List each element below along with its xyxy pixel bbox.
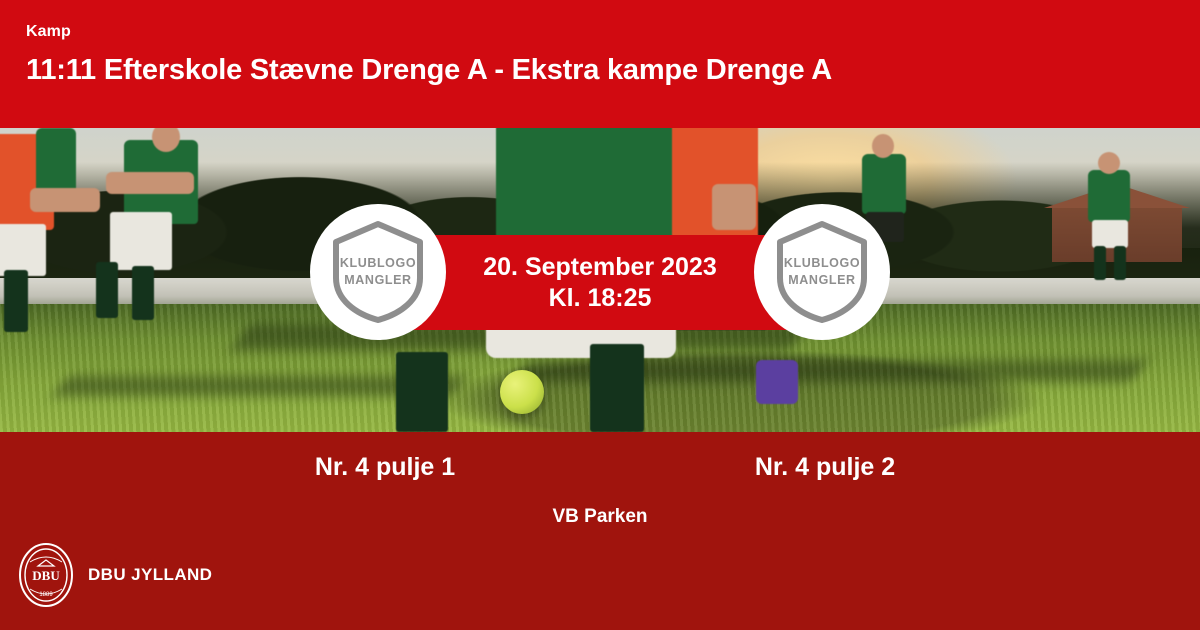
player-figure — [396, 352, 448, 432]
player-figure — [872, 134, 894, 158]
away-team-name: Nr. 4 pulje 2 — [615, 450, 1035, 484]
match-time: Kl. 18:25 — [549, 283, 652, 314]
match-date: 20. September 2023 — [483, 252, 716, 283]
player-figure — [110, 212, 172, 270]
player-figure — [712, 184, 756, 230]
player-figure — [1098, 152, 1120, 174]
venue-name: VB Parken — [0, 504, 1200, 530]
header-bar: Kamp 11:11 Efterskole Stævne Drenge A - … — [0, 0, 1200, 128]
home-club-logo[interactable]: KLUBLOGO MANGLER — [310, 204, 446, 340]
date-time-banner: 20. September 2023 Kl. 18:25 — [392, 235, 808, 330]
away-club-logo[interactable]: KLUBLOGO MANGLER — [754, 204, 890, 340]
match-graphic-card: Kamp 11:11 Efterskole Stævne Drenge A - … — [0, 0, 1200, 630]
player-figure — [96, 262, 118, 318]
brand-block: DBU 1889 DBU JYLLAND — [18, 542, 212, 608]
player-figure — [1114, 246, 1126, 280]
page-title: 11:11 Efterskole Stævne Drenge A - Ekstr… — [26, 52, 1200, 88]
footer-bar: Nr. 4 pulje 1 Nr. 4 pulje 2 VB Parken DB… — [0, 432, 1200, 630]
player-figure — [106, 172, 194, 194]
player-figure — [756, 360, 798, 404]
player-figure — [1094, 246, 1106, 280]
player-figure — [30, 188, 100, 212]
football — [500, 370, 544, 414]
svg-text:DBU: DBU — [32, 568, 60, 583]
player-figure — [132, 266, 154, 320]
home-logo-line2: MANGLER — [344, 272, 411, 289]
away-logo-line1: KLUBLOGO — [784, 255, 860, 272]
team-names-row: Nr. 4 pulje 1 Nr. 4 pulje 2 — [0, 450, 1200, 494]
player-figure — [4, 270, 28, 332]
player-figure — [862, 154, 906, 214]
player-figure — [590, 344, 644, 432]
svg-text:1889: 1889 — [39, 592, 53, 598]
dbu-crest-icon: DBU 1889 — [18, 542, 74, 608]
home-team-name: Nr. 4 pulje 1 — [175, 450, 595, 484]
away-logo-line2: MANGLER — [788, 272, 855, 289]
player-figure — [1088, 170, 1130, 222]
player-figure — [1092, 220, 1128, 248]
home-logo-line1: KLUBLOGO — [340, 255, 416, 272]
header-kicker: Kamp — [26, 22, 1200, 42]
brand-name: DBU JYLLAND — [88, 565, 212, 585]
player-figure — [0, 224, 46, 276]
